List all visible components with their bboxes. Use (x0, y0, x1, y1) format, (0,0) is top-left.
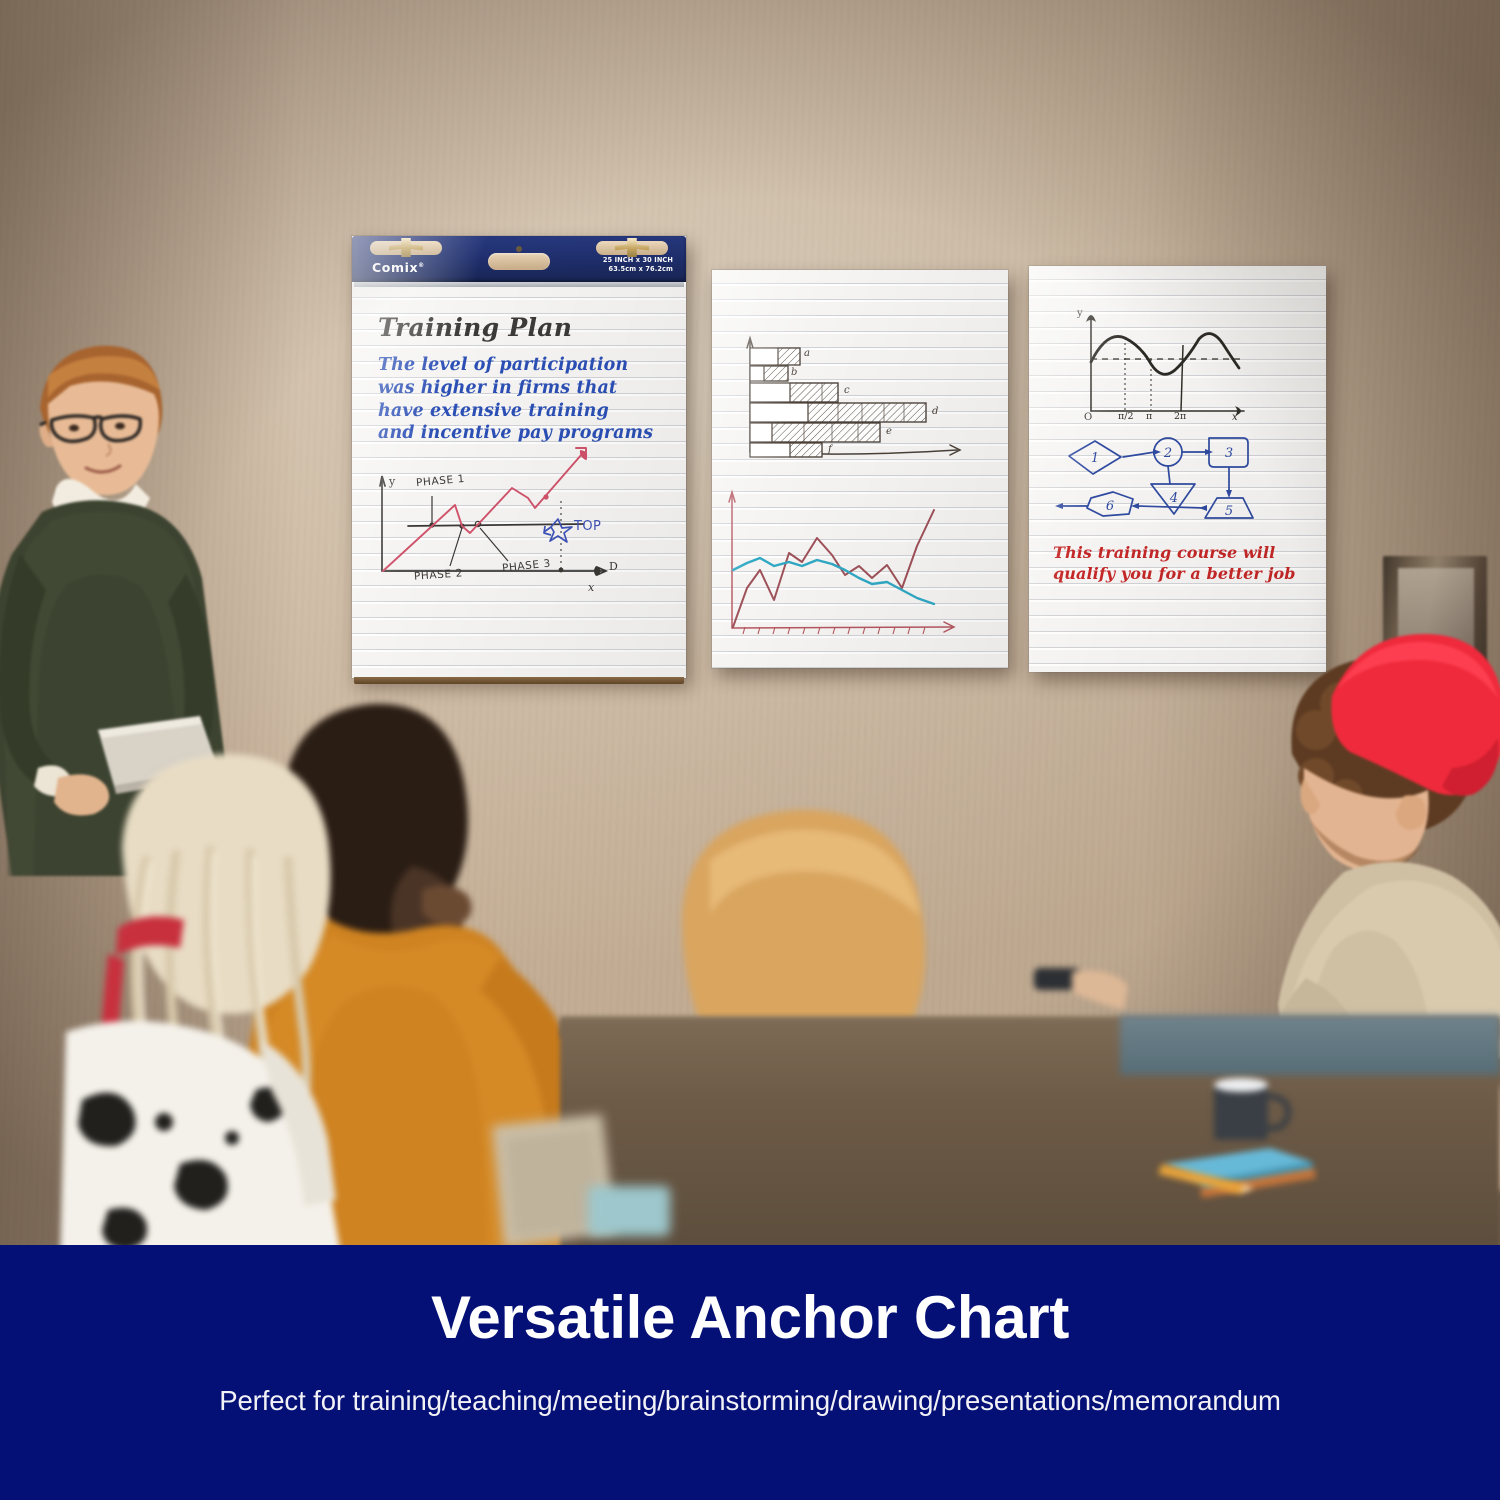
table-runner (1120, 1015, 1500, 1075)
pencil (1148, 1150, 1258, 1200)
desk-object-teal (580, 1176, 680, 1246)
attendee-braided-hair (60, 740, 440, 1260)
marketing-banner: Versatile Anchor Chart Perfect for train… (0, 1245, 1500, 1500)
banner-subtitle: Perfect for training/teaching/meeting/br… (0, 1385, 1500, 1417)
attendee-red-beanie (1276, 618, 1500, 1058)
product-lifestyle-image: Comix® 25 INCH x 30 INCH 63.5cm x 76.2cm… (0, 0, 1500, 1500)
banner-title: Versatile Anchor Chart (0, 1283, 1500, 1352)
